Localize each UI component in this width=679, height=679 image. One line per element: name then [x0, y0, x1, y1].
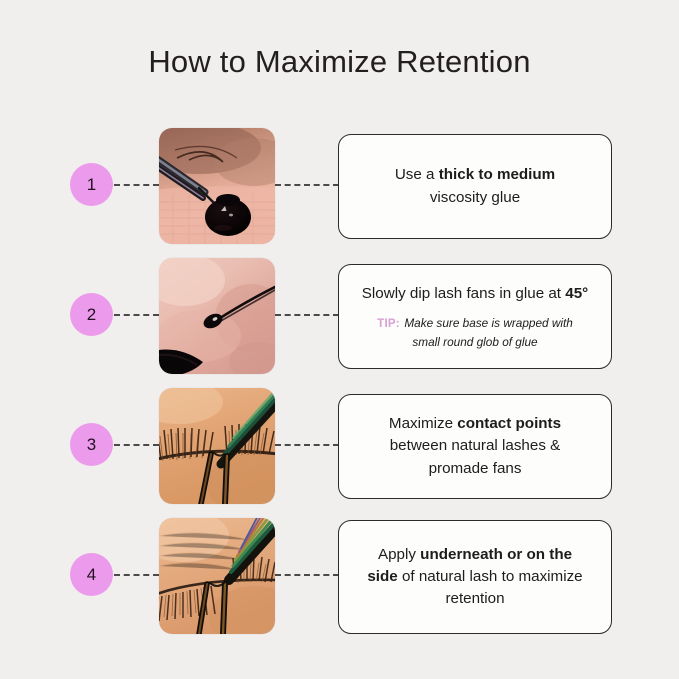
card-line: viscosity glue	[430, 187, 520, 209]
card-line: promade fans	[429, 458, 522, 480]
card-text-bold: 45°	[565, 285, 588, 302]
card-line: retention	[445, 588, 504, 610]
card-line: Use a thick to medium	[395, 164, 555, 186]
tip-label: TIP:	[377, 317, 400, 330]
card-text-plain: between natural lashes &	[390, 437, 561, 454]
tip-block: TIP: Make sure base is wrapped with smal…	[377, 312, 573, 350]
step-text-card-4: Apply underneath or on the side of natur…	[338, 520, 612, 634]
step-number-badge-1: 1	[70, 163, 113, 206]
card-text-plain: Apply	[378, 546, 420, 563]
card-text-plain: Use a	[395, 166, 439, 183]
step-row-2: 2	[0, 258, 679, 376]
page-title: How to Maximize Retention	[0, 44, 679, 80]
card-line: side of natural lash to maximize	[367, 566, 582, 588]
step-row-1: 1	[0, 128, 679, 246]
step-image-1	[159, 128, 275, 244]
connector-dashed-line-left-4	[114, 574, 159, 576]
connector-dashed-line-right-4	[275, 574, 339, 576]
step-number-badge-3: 3	[70, 423, 113, 466]
step-number-label: 1	[87, 175, 96, 195]
tip-text-line-2: small round glob of glue	[377, 334, 573, 350]
step-text-card-3: Maximize contact points between natural …	[338, 394, 612, 499]
step-number-label: 4	[87, 565, 96, 585]
card-text-plain: viscosity glue	[430, 189, 520, 206]
step-image-2	[159, 258, 275, 374]
step-number-label: 3	[87, 435, 96, 455]
connector-dashed-line-left-1	[114, 184, 159, 186]
card-text-plain: promade fans	[429, 460, 522, 477]
step-row-3: 3	[0, 388, 679, 506]
card-text-bold: side	[367, 568, 397, 585]
step-text-card-1: Use a thick to medium viscosity glue	[338, 134, 612, 239]
card-text-plain: Maximize	[389, 415, 457, 432]
connector-dashed-line-right-1	[275, 184, 339, 186]
card-text-plain: retention	[445, 590, 504, 607]
step-number-label: 2	[87, 305, 96, 325]
infographic-root: How to Maximize Retention 1	[0, 0, 679, 679]
connector-dashed-line-right-2	[275, 314, 339, 316]
step-number-badge-4: 4	[70, 553, 113, 596]
connector-dashed-line-left-2	[114, 314, 159, 316]
card-text-bold: thick to medium	[439, 166, 555, 183]
card-text-bold: underneath or on the	[420, 546, 572, 563]
card-text-plain: Slowly dip lash fans in glue at	[362, 285, 565, 302]
card-text-plain: of natural lash to maximize	[398, 568, 583, 585]
step-number-badge-2: 2	[70, 293, 113, 336]
card-line: Slowly dip lash fans in glue at 45°	[362, 283, 588, 305]
connector-dashed-line-right-3	[275, 444, 339, 446]
tip-text-line-1: Make sure base is wrapped with	[404, 316, 573, 330]
card-line: Maximize contact points	[389, 413, 561, 435]
step-image-3	[159, 388, 275, 504]
card-line: between natural lashes &	[390, 435, 561, 457]
step-text-card-2: Slowly dip lash fans in glue at 45° TIP:…	[338, 264, 612, 369]
step-row-4: 4	[0, 518, 679, 636]
card-text-bold: contact points	[457, 415, 561, 432]
connector-dashed-line-left-3	[114, 444, 159, 446]
card-line: Apply underneath or on the	[378, 544, 572, 566]
step-image-4	[159, 518, 275, 634]
